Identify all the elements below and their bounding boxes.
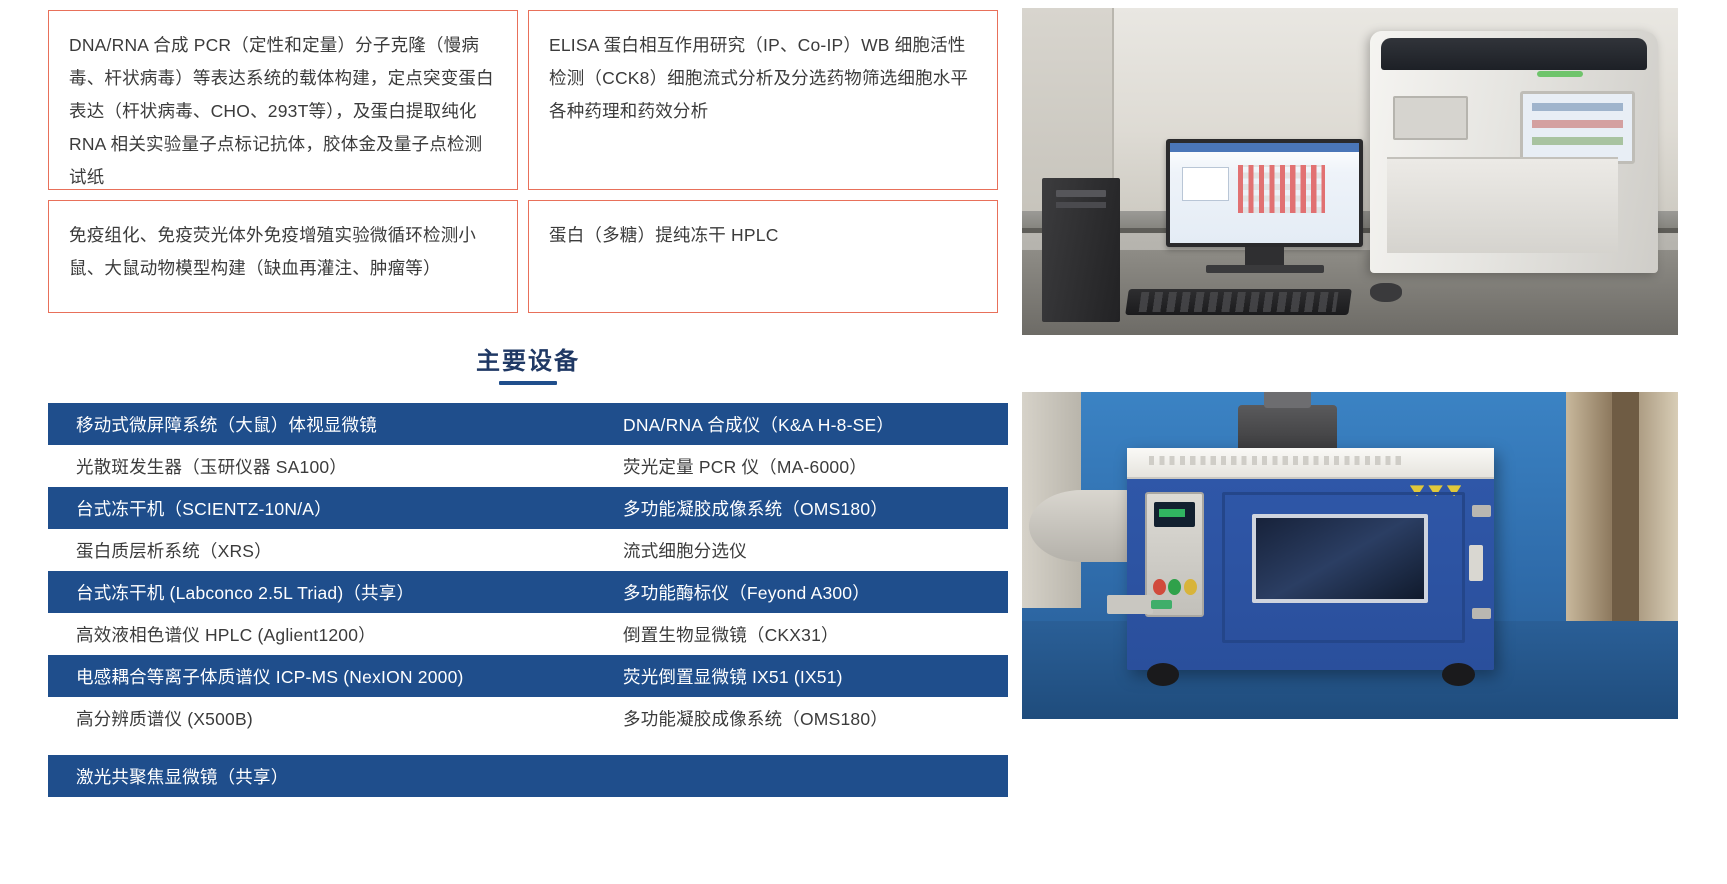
equipment-name-left: 高效液相色谱仪 HPLC (Aglient1200）	[48, 622, 623, 647]
drying-oven	[1127, 448, 1494, 670]
title-underline-rule	[499, 381, 557, 385]
service-box-text: DNA/RNA 合成 PCR（定性和定量）分子克隆（慢病毒、杆状病毒）等表达系统…	[69, 29, 497, 194]
tower-drive-slot	[1056, 190, 1106, 197]
lab-instrument-photo-2	[1022, 392, 1678, 719]
table-row[interactable]: 光散斑发生器（玉研仪器 SA100）荧光定量 PCR 仪（MA-6000）	[48, 445, 1008, 487]
equipment-name-right: 流式细胞分选仪	[623, 538, 1008, 563]
table-gap	[48, 739, 1008, 755]
wall-trim-right	[1612, 392, 1638, 627]
instrument-side-panel	[1393, 96, 1468, 140]
oven-hinge-bottom	[1472, 608, 1490, 619]
keyboard	[1125, 289, 1352, 315]
left-column: DNA/RNA 合成 PCR（定性和定量）分子克隆（慢病毒、杆状病毒）等表达系统…	[48, 10, 1008, 797]
screen-plate-grid	[1238, 165, 1325, 213]
desktop-tower	[1042, 178, 1121, 322]
instrument-status-led	[1537, 71, 1583, 77]
equipment-name-right: 倒置生物显微镜（CKX31）	[623, 622, 1008, 647]
table-row[interactable]: 台式冻干机（SCIENTZ-10N/A）多功能凝胶成像系统（OMS180）	[48, 487, 1008, 529]
equipment-name-left: 台式冻干机（SCIENTZ-10N/A）	[48, 496, 623, 521]
facility-capabilities-page: DNA/RNA 合成 PCR（定性和定量）分子克隆（慢病毒、杆状病毒）等表达系统…	[0, 0, 1727, 884]
computer-monitor	[1166, 139, 1363, 247]
equipment-name-right: 多功能酶标仪（Feyond A300）	[623, 580, 1008, 605]
lab-instrument-photo-1	[1022, 8, 1678, 335]
service-box-text: 免疫组化、免疫荧光体外免疫增殖实验微循环检测小鼠、大鼠动物模型构建（缺血再灌注、…	[69, 219, 497, 285]
table-row[interactable]: 高分辨质谱仪 (X500B)多功能凝胶成像系统（OMS180）	[48, 697, 1008, 739]
equipment-table: 移动式微屏障系统（大鼠）体视显微镜DNA/RNA 合成仪（K&A H-8-SE）…	[48, 403, 1008, 797]
oven-door-handle	[1469, 545, 1484, 581]
pcr-instrument	[1370, 31, 1659, 273]
equipment-name-right: 多功能凝胶成像系统（OMS180）	[623, 706, 1008, 731]
monitor-base	[1206, 265, 1324, 273]
service-box-immuno-animal-model: 免疫组化、免疫荧光体外免疫增殖实验微循环检测小鼠、大鼠动物模型构建（缺血再灌注、…	[48, 200, 518, 313]
oven-viewing-window	[1252, 514, 1428, 603]
tower-vent	[1056, 202, 1106, 208]
service-box-cell-protein-analysis: ELISA 蛋白相互作用研究（IP、Co-IP）WB 细胞活性检测（CCK8）细…	[528, 10, 998, 190]
table-row[interactable]: 台式冻干机 (Labconco 2.5L Triad)（共享）多功能酶标仪（Fe…	[48, 571, 1008, 613]
equipment-section-header: 主要设备	[48, 341, 1008, 385]
service-box-text: ELISA 蛋白相互作用研究（IP、Co-IP）WB 细胞活性检测（CCK8）细…	[549, 29, 977, 128]
instrument-door	[1387, 157, 1618, 254]
table-row[interactable]: 移动式微屏障系统（大鼠）体视显微镜DNA/RNA 合成仪（K&A H-8-SE）	[48, 403, 1008, 445]
mouse	[1370, 283, 1403, 303]
service-box-molecular-biology: DNA/RNA 合成 PCR（定性和定量）分子克隆（慢病毒、杆状病毒）等表达系统…	[48, 10, 518, 190]
photo-pcr-workstation	[1022, 8, 1678, 335]
oven-hinge-top	[1472, 505, 1490, 516]
equipment-name-left: 光散斑发生器（玉研仪器 SA100）	[48, 454, 623, 479]
service-box-text: 蛋白（多糖）提纯冻干 HPLC	[549, 219, 977, 252]
equipment-name-left: 蛋白质层析系统（XRS）	[48, 538, 623, 563]
photo-drying-oven	[1022, 392, 1678, 719]
oven-top-vent	[1149, 456, 1406, 465]
gas-valve	[1107, 595, 1153, 615]
table-row[interactable]: 蛋白质层析系统（XRS）流式细胞分选仪	[48, 529, 1008, 571]
service-box-protein-purification: 蛋白（多糖）提纯冻干 HPLC	[528, 200, 998, 313]
exhaust-duct	[1029, 490, 1134, 562]
oven-buttons	[1153, 571, 1197, 602]
equipment-name-left: 电感耦合等离子体质谱仪 ICP-MS (NexION 2000)	[48, 664, 623, 689]
equipment-name-right: DNA/RNA 合成仪（K&A H-8-SE）	[623, 412, 1008, 437]
table-row[interactable]: 高效液相色谱仪 HPLC (Aglient1200）倒置生物显微镜（CKX31）	[48, 613, 1008, 655]
caster-wheel-right	[1442, 663, 1475, 686]
instrument-display	[1520, 91, 1635, 164]
instrument-top-cover	[1381, 38, 1647, 69]
table-row[interactable]: 电感耦合等离子体质谱仪 ICP-MS (NexION 2000)荧光倒置显微镜 …	[48, 655, 1008, 697]
equipment-name-left: 激光共聚焦显微镜（共享）	[48, 764, 623, 789]
page-title: 主要设备	[476, 348, 580, 375]
section-title-wrapper: 主要设备	[476, 341, 580, 385]
equipment-name-right: 多功能凝胶成像系统（OMS180）	[623, 496, 1008, 521]
equipment-name-left: 高分辨质谱仪 (X500B)	[48, 706, 623, 731]
equipment-name-left: 移动式微屏障系统（大鼠）体视显微镜	[48, 412, 623, 437]
equipment-name-left: 台式冻干机 (Labconco 2.5L Triad)（共享）	[48, 580, 623, 605]
screen-plot	[1182, 167, 1229, 201]
equipment-name-right: 荧光倒置显微镜 IX51 (IX51)	[623, 664, 1008, 689]
oven-control-panel	[1145, 492, 1204, 617]
monitor-stand	[1245, 247, 1284, 267]
service-box-grid: DNA/RNA 合成 PCR（定性和定量）分子克隆（慢病毒、杆状病毒）等表达系统…	[48, 10, 1008, 313]
equipment-name-right: 荧光定量 PCR 仪（MA-6000）	[623, 454, 1008, 479]
table-row[interactable]: 激光共聚焦显微镜（共享）	[48, 755, 1008, 797]
screen-toolbar	[1170, 143, 1359, 152]
oven-display	[1154, 502, 1196, 526]
monitor-screen	[1170, 143, 1359, 243]
